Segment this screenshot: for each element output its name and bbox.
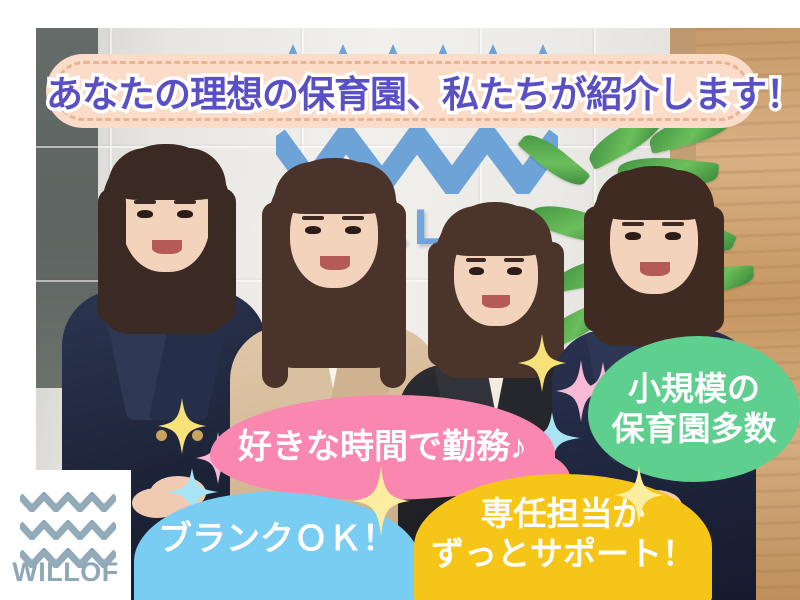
poster-canvas: WILLOF [0, 0, 800, 600]
willof-logo[interactable]: WILLOF [0, 470, 131, 600]
bubble-green-line2: 保育園多数 [612, 410, 777, 447]
bubble-yellow-line2: ずっとサポート！ [431, 535, 695, 572]
headline-text: あなたの理想の保育園、私たちが紹介します！ [46, 64, 758, 118]
headline-banner: あなたの理想の保育園、私たちが紹介します！ [46, 54, 758, 128]
willof-logo-text: WILLOF [0, 557, 131, 588]
bubble-green-label: 小規模の 保育園多数 [612, 369, 777, 450]
logo-zigzag-row-2-icon [20, 520, 116, 540]
sparkle-yellow-bottom-icon [352, 466, 410, 536]
bubble-dedicated-support[interactable]: 専任担当が ずっとサポート！ [414, 474, 712, 600]
sparkle-yellow-right-icon [614, 466, 664, 524]
bubble-small-nurseries[interactable]: 小規模の 保育園多数 [588, 336, 800, 482]
bubble-pink-label: 好きな時間で勤務♪ [238, 427, 527, 468]
logo-zigzag-row-1-icon [20, 492, 116, 512]
bubble-green-line1: 小規模の [628, 370, 760, 407]
